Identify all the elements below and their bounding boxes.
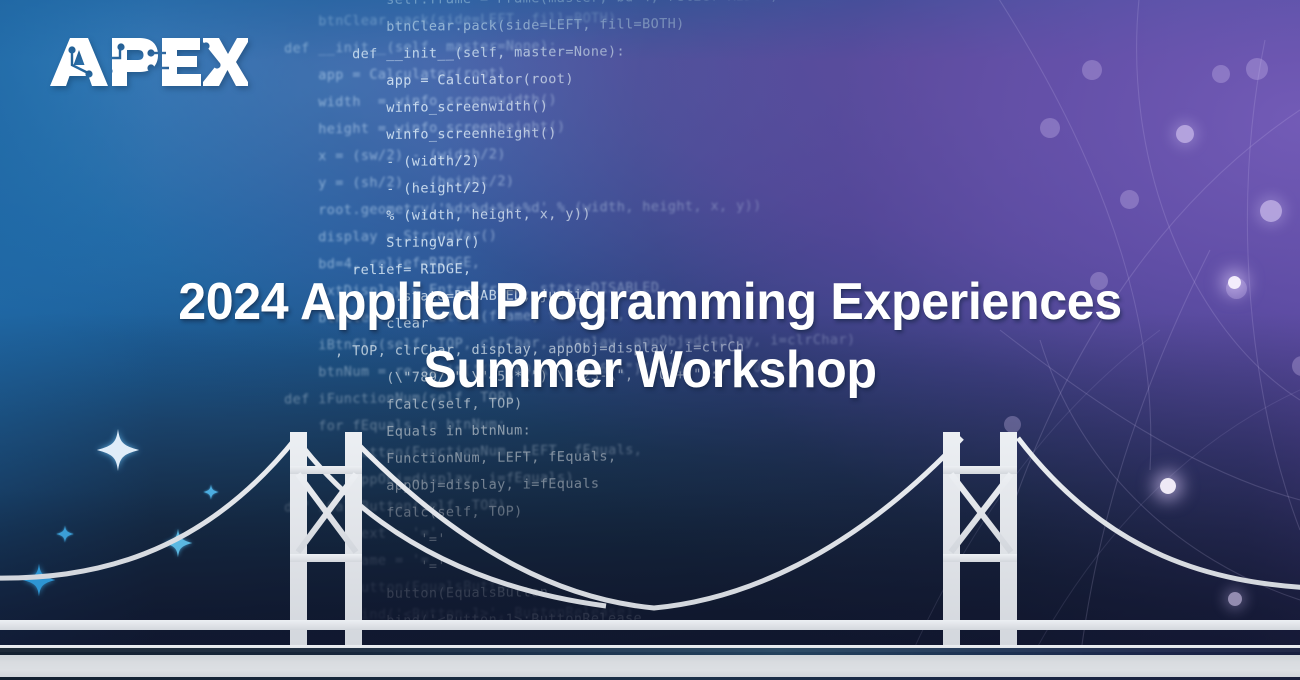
bridge-tower-left	[290, 432, 362, 645]
title-line-1: 2024 Applied Programming Experiences	[110, 268, 1191, 336]
apex-circuit-logo[interactable]	[48, 34, 248, 96]
bridge-tower-right	[943, 432, 1017, 645]
banner-title: 2024 Applied Programming Experiences Sum…	[0, 268, 1300, 404]
footer-light-band	[0, 655, 1300, 677]
title-line-2: Summer Workshop	[110, 336, 1191, 404]
workshop-banner: self.frame = Frame(master, bd=4, relief=…	[0, 0, 1300, 680]
bridge-deck-shadow	[0, 648, 1300, 655]
suspension-bridge-silhouette	[0, 430, 1300, 680]
